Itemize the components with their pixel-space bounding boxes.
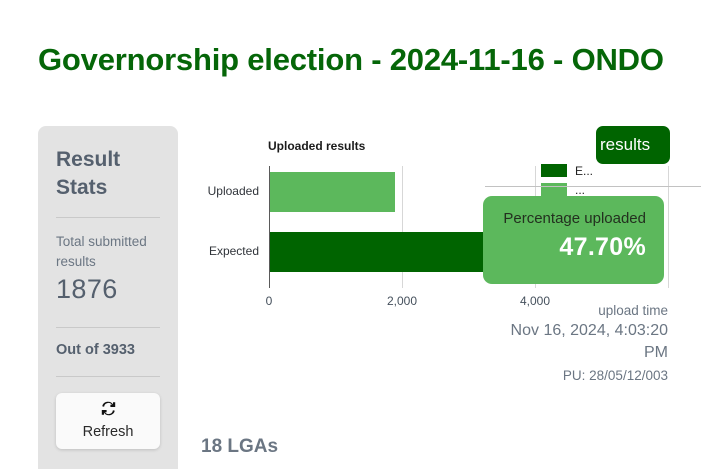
refresh-button-label: Refresh — [83, 424, 134, 440]
x-tick-0: 0 — [266, 294, 273, 308]
legend-label-uploaded: ... — [575, 183, 585, 197]
divider — [56, 217, 160, 218]
x-tick-2000: 2,000 — [387, 294, 417, 308]
upload-time-value: Nov 16, 2024, 4:03:20 PM — [493, 320, 668, 363]
legend-label-expected: E... — [575, 164, 593, 178]
x-tick-4000: 4,000 — [520, 294, 550, 308]
total-submitted-value: 1876 — [56, 274, 160, 305]
legend-swatch-icon — [541, 164, 567, 177]
page-title: Governorship election - 2024-11-16 - OND… — [38, 42, 664, 78]
category-label-uploaded: Uploaded — [208, 184, 259, 198]
total-submitted-label: Total submitted results — [56, 232, 160, 270]
gridline-6000 — [668, 166, 669, 288]
chart-title: Uploaded results — [268, 139, 365, 153]
percentage-uploaded-value: 47.70% — [483, 233, 646, 262]
result-stats-card: Result Stats Total submitted results 187… — [38, 126, 178, 469]
results-chip[interactable]: results — [596, 126, 670, 164]
legend-swatch-icon — [541, 183, 567, 196]
out-of-label: Out of 3933 — [56, 342, 160, 358]
polling-unit-code: PU: 28/05/12/003 — [563, 368, 668, 383]
divider — [56, 327, 160, 328]
lga-count: 18 LGAs — [201, 436, 278, 458]
stats-heading: Result Stats — [56, 146, 126, 201]
divider — [56, 376, 160, 377]
refresh-button[interactable]: Refresh — [56, 393, 160, 449]
divider — [485, 186, 701, 187]
chart-legend: E... ... — [541, 161, 631, 199]
percentage-uploaded-card: Percentage uploaded 47.70% — [483, 196, 664, 284]
refresh-icon — [100, 401, 117, 420]
category-label-expected: Expected — [209, 244, 259, 258]
percentage-uploaded-label: Percentage uploaded — [483, 210, 646, 227]
upload-time-label: upload time — [598, 303, 668, 318]
bar-uploaded[interactable] — [270, 172, 395, 212]
